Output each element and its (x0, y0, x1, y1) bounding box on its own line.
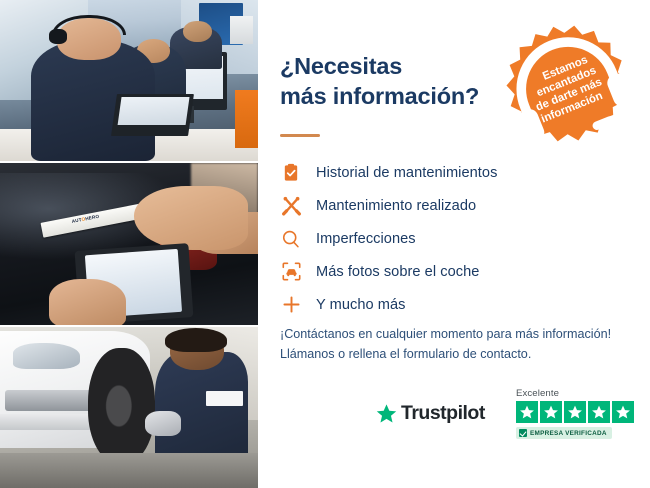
page-title-line-1: ¿Necesitas (280, 52, 510, 82)
rating-star (612, 401, 634, 423)
feature-item-maintenance-history: Historial de mantenimientos (280, 156, 640, 189)
ruler-brand-text: AUTOHERO (72, 214, 100, 224)
verified-badge-label: EMPRESA VERIFICADA (530, 430, 607, 437)
feature-item-imperfections: Imperfecciones (280, 222, 640, 255)
feature-label: Y mucho más (316, 297, 406, 313)
title-underline-rule (280, 134, 320, 137)
information-request-banner: AUTOHERO ¿Necesitas más infor (0, 0, 650, 488)
wrench-screwdriver-icon (280, 195, 302, 217)
rating-label: Excelente (516, 388, 634, 399)
clipboard-check-icon (280, 162, 302, 184)
car-wheel (88, 348, 155, 464)
rating-star (540, 401, 562, 423)
feature-item-and-much-more: Y mucho más (280, 288, 640, 321)
check-square-icon (519, 429, 527, 437)
contact-instructions-line-1: ¡Contáctanos en cualquier momento para m… (280, 325, 636, 345)
photo-vehicle-inspection-ruler: AUTOHERO (0, 163, 258, 324)
uniform-logo-patch (206, 391, 242, 406)
rating-star (588, 401, 610, 423)
car-headlight (13, 343, 80, 369)
status-badge: EMPRESA VERIFICADA (516, 427, 612, 439)
support-promise-badge: Estamos encantados de darte más informac… (490, 9, 644, 163)
feature-label: Más fotos sobre el coche (316, 264, 479, 280)
car-viewfinder-icon (280, 261, 302, 283)
headset-earcup (49, 29, 67, 44)
rating-star (564, 401, 586, 423)
feature-list: Historial de mantenimientos Mantenimient… (280, 156, 640, 321)
rating-star (516, 401, 538, 423)
photo-call-center-agents (0, 0, 258, 161)
star-rating (516, 401, 634, 423)
feature-label: Mantenimiento realizado (316, 198, 476, 214)
trustpilot-wordmark: Trustpilot (401, 402, 485, 425)
trustpilot-star-icon (376, 403, 397, 424)
orange-equipment (235, 90, 258, 148)
workshop-floor (0, 453, 258, 488)
mechanic-glove (145, 411, 181, 437)
plus-icon (280, 294, 302, 316)
content-panel: ¿Necesitas más información? Estamos enca… (258, 0, 650, 488)
feature-label: Imperfecciones (316, 231, 416, 247)
photo-mechanic-wheel-check (0, 327, 258, 488)
contact-instructions: ¡Contáctanos en cualquier momento para m… (280, 325, 636, 364)
trustpilot-rating-block: Trustpilot Excelente EMPRESA VERIFICADA (376, 388, 650, 452)
headset-icon (484, 3, 650, 170)
ruler-brand-accent: O (81, 217, 86, 223)
photo-collage: AUTOHERO (0, 0, 258, 488)
laptop (111, 94, 194, 136)
contact-instructions-line-2: Llámanos o rellena el formulario de cont… (280, 345, 636, 365)
background-colleague-head (183, 21, 211, 42)
trustpilot-score: Excelente EMPRESA VERIFICADA (516, 388, 634, 442)
wall-notice (230, 16, 253, 43)
trustpilot-logo: Trustpilot (376, 402, 485, 425)
inspector-hand-lower (49, 279, 126, 324)
magnifier-icon (280, 228, 302, 250)
feature-item-maintenance-performed: Mantenimiento realizado (280, 189, 640, 222)
feature-item-more-photos: Más fotos sobre el coche (280, 255, 640, 288)
page-title: ¿Necesitas más información? (280, 52, 510, 111)
page-title-line-2: más información? (280, 82, 510, 112)
feature-label: Historial de mantenimientos (316, 165, 497, 181)
mechanic-hair (165, 328, 227, 352)
